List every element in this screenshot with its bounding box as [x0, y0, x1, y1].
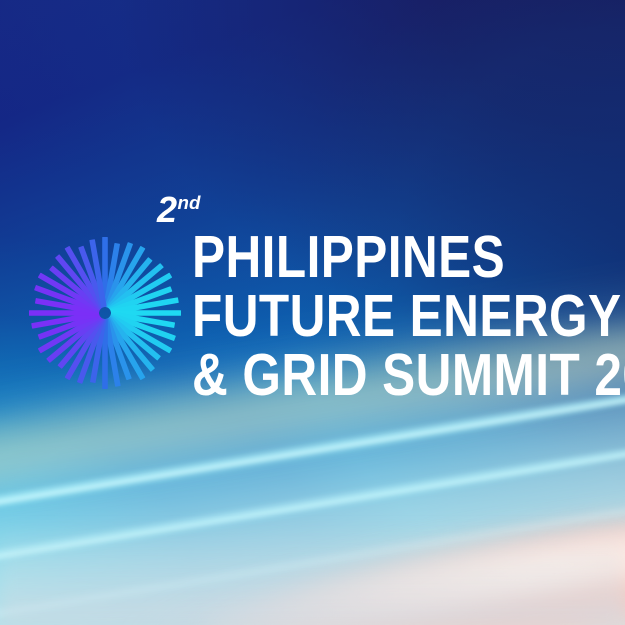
ordinal-label: 2nd: [157, 192, 200, 228]
ordinal-suffix: nd: [178, 192, 201, 213]
title-line-future-energy: FUTURE ENERGY: [192, 288, 552, 344]
ordinal-number: 2: [157, 189, 177, 230]
title-block: 2nd PHILIPPINES FUTURE ENERGY & GRID SUM…: [150, 192, 620, 403]
title-line-philippines: PHILIPPINES: [192, 229, 552, 285]
title-lines: PHILIPPINES FUTURE ENERGY & GRID SUMMIT …: [192, 229, 620, 403]
event-poster: 2nd PHILIPPINES FUTURE ENERGY & GRID SUM…: [0, 0, 625, 625]
background-bottom-cool-wash: [0, 525, 625, 625]
title-line-grid-summit-2025: & GRID SUMMIT 2025: [192, 347, 552, 403]
